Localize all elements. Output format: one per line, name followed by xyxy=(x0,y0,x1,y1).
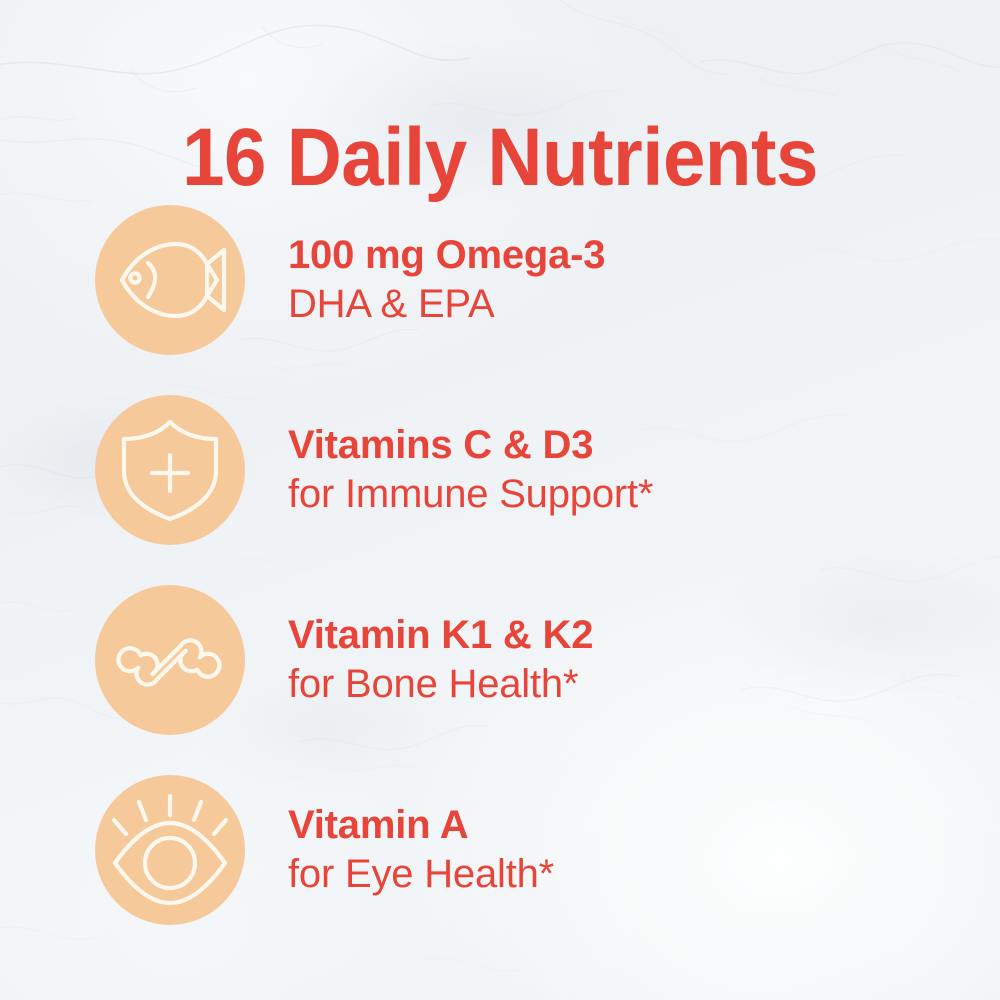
shield-plus-icon xyxy=(115,415,225,525)
list-item-omega3: 100 mg Omega-3 DHA & EPA xyxy=(0,205,1000,355)
eye-icon xyxy=(109,791,231,909)
nutrient-benefits-graphic: 16 Daily Nutrients 100 mg Omega-3 DHA & … xyxy=(0,0,1000,1000)
fish-icon-badge xyxy=(95,205,245,355)
omega3-headline: 100 mg Omega-3 xyxy=(288,235,605,275)
vitamin-k-headline: Vitamin K1 & K2 xyxy=(288,615,593,655)
omega3-subline: DHA & EPA xyxy=(288,284,605,324)
vitamins-c-d3-text: Vitamins C & D3 for Immune Support* xyxy=(288,425,653,516)
shield-plus-icon-badge xyxy=(95,395,245,545)
vitamin-a-subline: for Eye Health* xyxy=(288,854,554,894)
fish-icon xyxy=(110,220,230,340)
omega3-text: 100 mg Omega-3 DHA & EPA xyxy=(288,235,605,326)
eye-icon-badge xyxy=(95,775,245,925)
bone-icon-badge xyxy=(95,585,245,735)
list-item-vitamin-k: Vitamin K1 & K2 for Bone Health* xyxy=(0,585,1000,735)
vitamins-c-d3-subline: for Immune Support* xyxy=(288,474,653,514)
vitamin-k-text: Vitamin K1 & K2 for Bone Health* xyxy=(288,615,593,706)
benefits-list: 100 mg Omega-3 DHA & EPA Vitamins C & D3… xyxy=(0,205,1000,965)
list-item-vitamins-c-d3: Vitamins C & D3 for Immune Support* xyxy=(0,395,1000,545)
vitamins-c-d3-headline: Vitamins C & D3 xyxy=(288,425,653,465)
vitamin-a-headline: Vitamin A xyxy=(288,805,554,845)
list-item-vitamin-a: Vitamin A for Eye Health* xyxy=(0,775,1000,925)
page-title: 16 Daily Nutrients xyxy=(35,117,965,199)
vitamin-k-subline: for Bone Health* xyxy=(288,664,593,704)
vitamin-a-text: Vitamin A for Eye Health* xyxy=(288,805,554,896)
bone-icon xyxy=(112,602,228,718)
